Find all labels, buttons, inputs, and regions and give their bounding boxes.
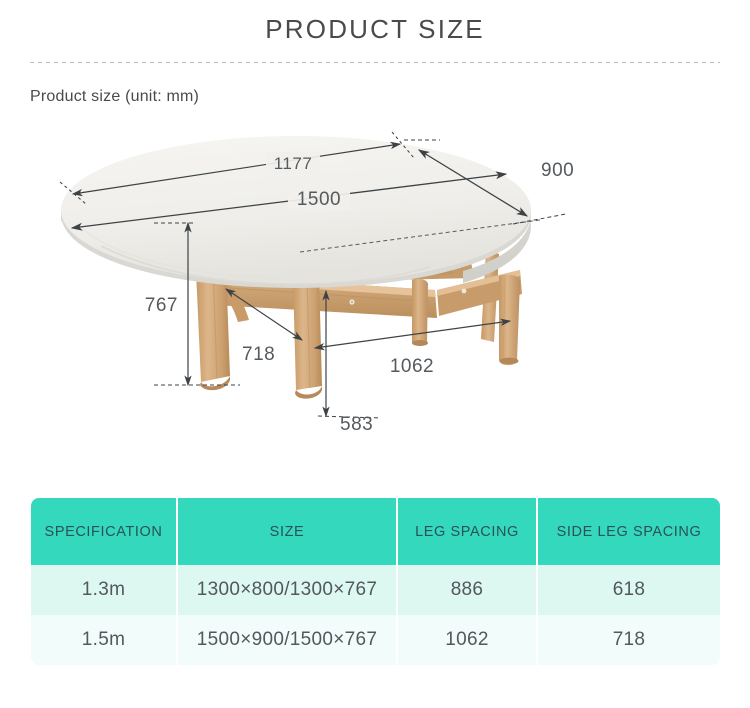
cell-specification: 1.5m [31, 615, 178, 665]
dim-label-767: 767 [145, 295, 178, 316]
header-divider [30, 62, 720, 63]
dim-label-900: 900 [541, 160, 574, 181]
table-row: 1.5m 1500×900/1500×767 1062 718 [31, 615, 720, 665]
dim-label-583: 583 [340, 414, 373, 435]
page-title: PRODUCT SIZE [0, 14, 750, 45]
cell-size: 1500×900/1500×767 [178, 615, 398, 665]
table-row: 1.3m 1300×800/1300×767 886 618 [31, 565, 720, 615]
column-header-side-leg-spacing: SIDE LEG SPACING [538, 498, 720, 565]
cell-side-leg-spacing: 618 [538, 565, 720, 615]
table-leg-round-right [499, 275, 520, 366]
column-header-leg-spacing: LEG SPACING [398, 498, 538, 565]
column-header-specification: SPECIFICATION [31, 498, 178, 565]
specification-table: SPECIFICATION SIZE LEG SPACING SIDE LEG … [31, 498, 720, 665]
column-header-size: SIZE [178, 498, 398, 565]
cell-size: 1300×800/1300×767 [178, 565, 398, 615]
cell-leg-spacing: 1062 [398, 615, 538, 665]
unit-note: Product size (unit: mm) [30, 88, 199, 106]
product-size-page: PRODUCT SIZE Product size (unit: mm) [0, 0, 750, 708]
table-header-row: SPECIFICATION SIZE LEG SPACING SIDE LEG … [31, 498, 720, 565]
cell-side-leg-spacing: 718 [538, 615, 720, 665]
dim-label-1177: 1177 [274, 154, 313, 173]
table-leg-round-mid [412, 279, 428, 346]
dim-label-1062: 1062 [390, 356, 434, 377]
dim-label-718: 718 [242, 344, 275, 365]
cell-specification: 1.3m [31, 565, 178, 615]
dim-label-1500: 1500 [297, 189, 341, 210]
cell-leg-spacing: 886 [398, 565, 538, 615]
table-illustration: 1177 1500 900 767 718 1062 583 [0, 128, 750, 468]
